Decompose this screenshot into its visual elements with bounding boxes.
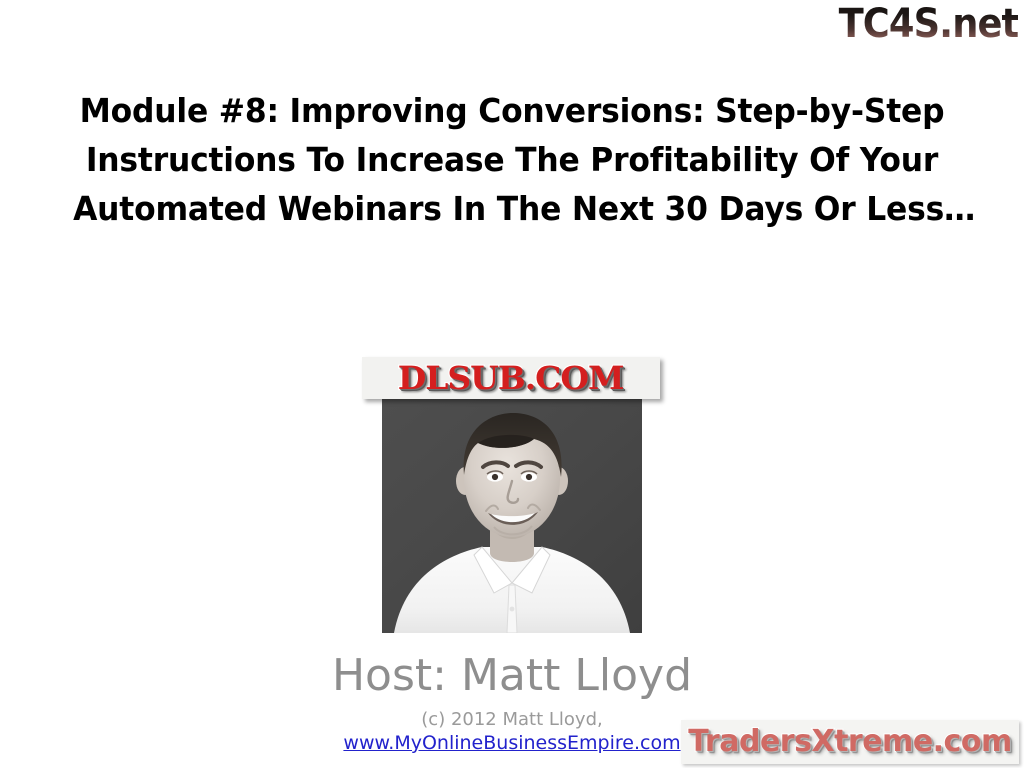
tc4s-logo: TC4S.net	[838, 2, 1018, 46]
tradersxtreme-watermark: TradersXtreme.com	[681, 720, 1019, 764]
dlsub-watermark-text: DLSUB.COM	[398, 362, 624, 394]
title-line-2: Instructions To Increase The Profitabili…	[73, 135, 951, 184]
tradersxtreme-watermark-text: TradersXtreme.com	[688, 727, 1011, 757]
presentation-slide: TC4S.net Module #8: Improving Conversion…	[0, 0, 1024, 768]
dlsub-watermark: DLSUB.COM	[362, 357, 660, 399]
slide-title: Module #8: Improving Conversions: Step-b…	[73, 86, 951, 233]
portrait-illustration	[382, 397, 642, 633]
title-line-1: Module #8: Improving Conversions: Step-b…	[73, 86, 951, 135]
host-label: Host: Matt Lloyd	[0, 650, 1024, 702]
host-portrait-photo	[382, 397, 642, 633]
title-line-3: Automated Webinars In The Next 30 Days O…	[73, 184, 951, 233]
